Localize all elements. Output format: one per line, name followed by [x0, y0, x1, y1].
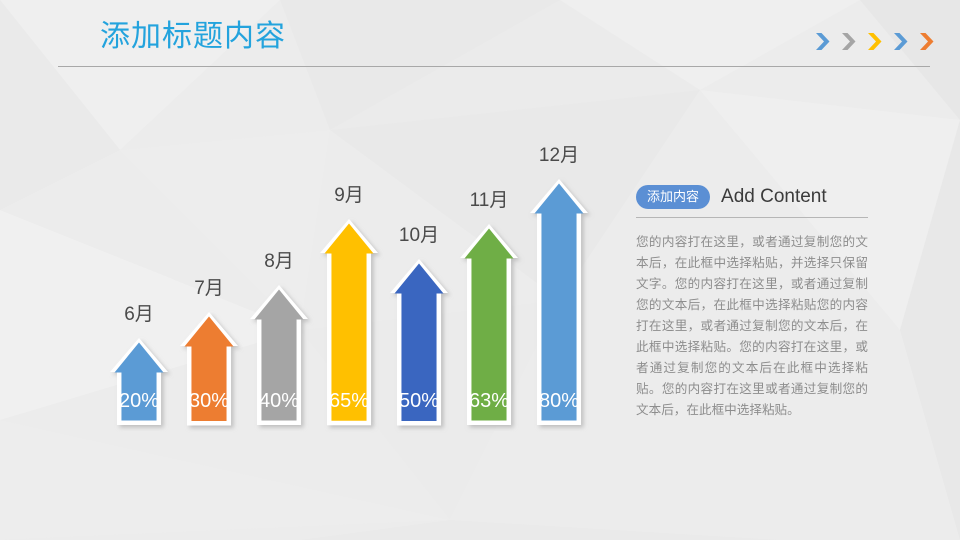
bar-arrow[interactable]: 40% — [250, 285, 308, 425]
content-title: Add Content — [721, 185, 827, 209]
bar-category-label: 8月 — [264, 251, 294, 273]
bar-group: 7月30% — [180, 278, 238, 426]
bar-category-label: 11月 — [470, 190, 509, 212]
bar-group: 6月20% — [110, 304, 168, 425]
slide-canvas: 添加标题内容 6月20%7月30%8月40%9月65%10月50%11月63%1… — [0, 0, 960, 540]
chevron-right-icon-4 — [894, 33, 909, 50]
content-divider — [636, 217, 868, 218]
content-panel: 添加内容 Add Content 您的内容打在这里，或者通过复制您的文本后，在此… — [636, 184, 868, 434]
chevron-right-icon-1 — [816, 33, 831, 50]
bar-group: 9月65% — [320, 185, 378, 425]
chevron-decoration-group — [816, 33, 935, 50]
bar-arrow[interactable]: 63% — [460, 224, 518, 425]
bar-arrow[interactable]: 30% — [180, 312, 238, 426]
bar-group: 12月80% — [530, 145, 588, 425]
bar-category-label: 6月 — [124, 304, 154, 326]
bar-group: 10月50% — [390, 225, 448, 426]
bar-arrow[interactable]: 65% — [320, 219, 378, 425]
bar-category-label: 9月 — [334, 185, 364, 207]
bar-arrow[interactable]: 50% — [390, 259, 448, 426]
bar-arrow[interactable]: 80% — [530, 179, 588, 425]
bar-category-label: 7月 — [194, 278, 224, 300]
arrow-bar-chart: 6月20%7月30%8月40%9月65%10月50%11月63%12月80% — [0, 0, 620, 540]
bar-group: 8月40% — [250, 251, 308, 425]
bar-group: 11月63% — [460, 190, 518, 425]
content-badge: 添加内容 — [636, 185, 710, 209]
content-heading-row: 添加内容 Add Content — [636, 184, 868, 210]
bar-category-label: 12月 — [539, 145, 579, 167]
bar-arrow[interactable]: 20% — [110, 338, 168, 425]
chevron-right-icon-3 — [868, 33, 883, 50]
chevron-right-icon-2 — [842, 33, 857, 50]
content-body-text: 您的内容打在这里，或者通过复制您的文本后，在此框中选择粘贴，并选择只保留文字。您… — [636, 232, 868, 421]
bar-category-label: 10月 — [399, 225, 439, 247]
chevron-right-icon-5 — [920, 33, 935, 50]
